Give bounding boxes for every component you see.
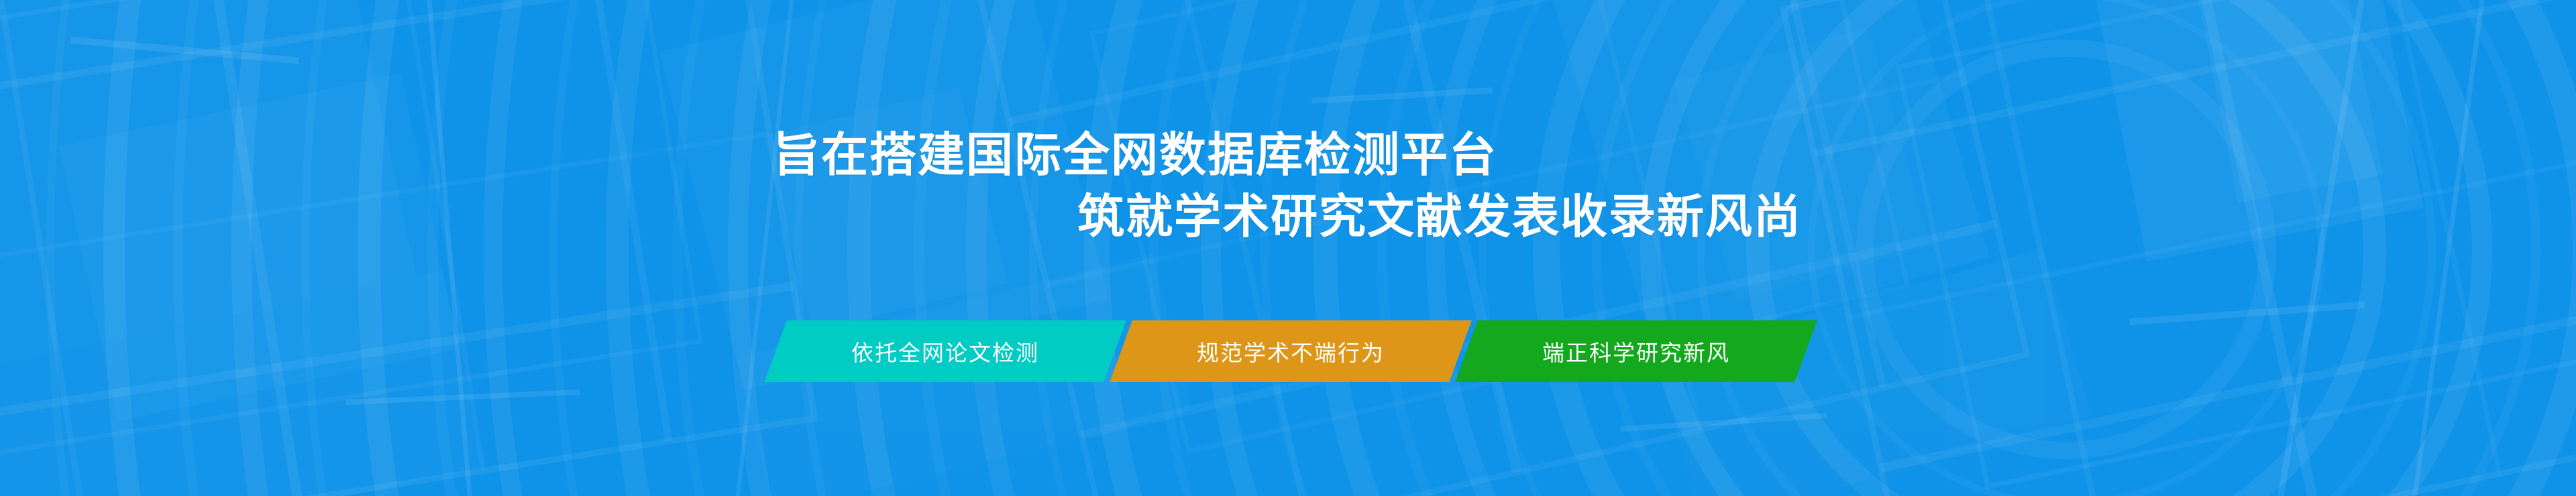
feature-tab-guifan-xueshu-buduan[interactable]: 规范学术不端行为 [1110, 320, 1471, 382]
headline-line-1: 旨在搭建国际全网数据库检测平台 [773, 131, 1497, 178]
feature-tab-label: 依托全网论文检测 [851, 335, 1039, 367]
headline-line-2: 筑就学术研究文献发表收录新风尚 [1077, 193, 1802, 240]
feature-tab-quanwang-lunwen-jiance[interactable]: 依托全网论文检测 [764, 320, 1126, 382]
feature-tab-strip: 依托全网论文检测 规范学术不端行为 端正科学研究新风 [775, 320, 1809, 382]
feature-tab-label: 规范学术不端行为 [1197, 335, 1385, 367]
headline-block: 旨在搭建国际全网数据库检测平台 筑就学术研究文献发表收录新风尚 [0, 0, 2576, 496]
feature-tab-label: 端正科学研究新风 [1542, 335, 1730, 367]
promo-banner: 旨在搭建国际全网数据库检测平台 筑就学术研究文献发表收录新风尚 依托全网论文检测… [0, 0, 2576, 496]
feature-tab-duanzheng-kexue-yanjiu[interactable]: 端正科学研究新风 [1455, 320, 1817, 382]
